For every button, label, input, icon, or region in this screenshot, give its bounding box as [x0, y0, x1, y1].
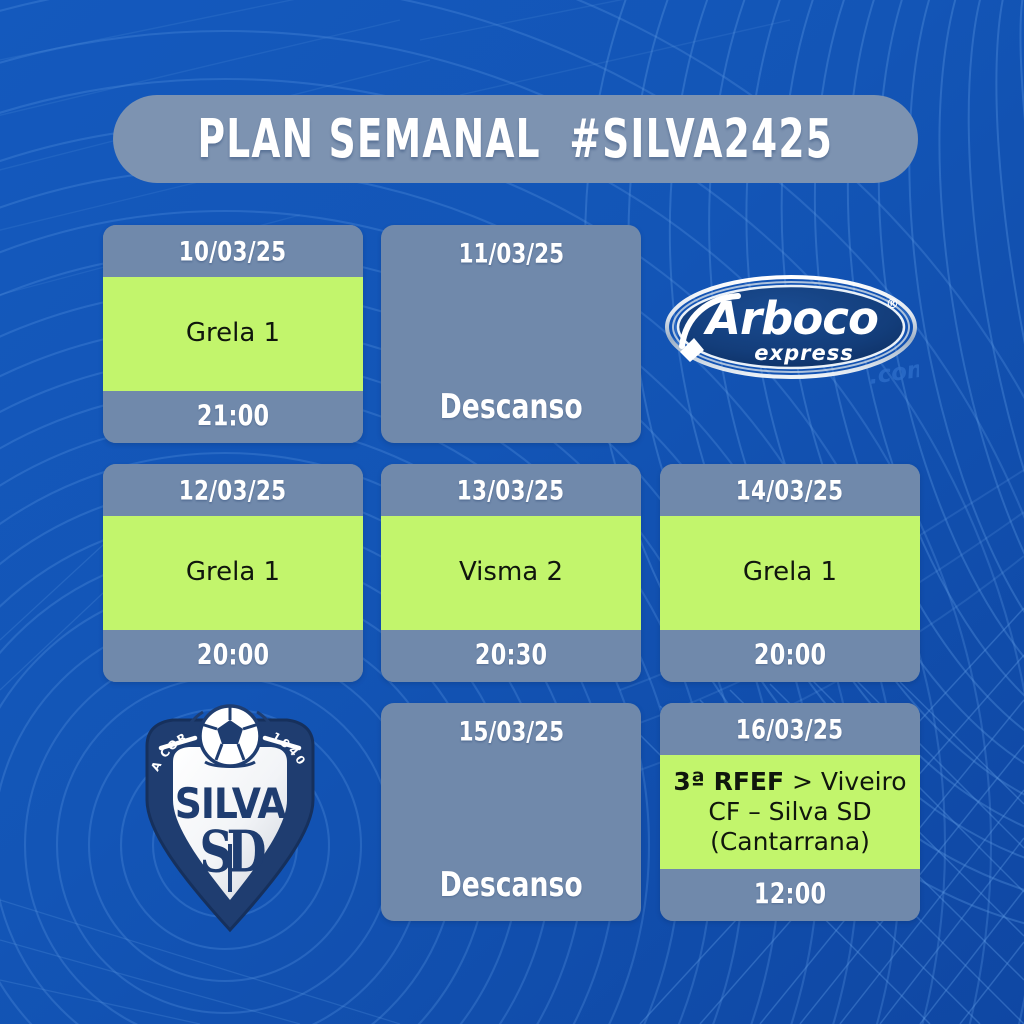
svg-text:.com: .com: [867, 356, 919, 390]
day-date: 11/03/25: [450, 239, 573, 268]
day-card-0[interactable]: 10/03/25 Grela 1 21:00: [103, 225, 363, 443]
svg-text:express: express: [754, 341, 853, 365]
day-date: 14/03/25: [660, 464, 920, 516]
day-location: Grela 1: [660, 516, 920, 630]
day-card-6[interactable]: 16/03/25 3ª RFEF > Viveiro CF – Silva SD…: [660, 703, 920, 921]
day-rest-label: Descanso: [428, 389, 594, 425]
day-time: 20:30: [381, 630, 641, 682]
day-date: 16/03/25: [660, 703, 920, 755]
day-time: 20:00: [103, 630, 363, 682]
day-card-5[interactable]: 15/03/25 Descanso: [381, 703, 641, 921]
day-card-4[interactable]: 14/03/25 Grela 1 20:00: [660, 464, 920, 682]
page-title-banner: PLAN SEMANAL #SILVA2425: [113, 95, 918, 183]
svg-text:SD: SD: [199, 818, 264, 885]
arboco-express-logo: Arboco ® express .com: [664, 272, 919, 390]
silva-sd-crest: A CORUÑA 1940 SILVA SD: [121, 704, 339, 936]
page-title: PLAN SEMANAL #SILVA2425: [198, 108, 834, 171]
day-date: 12/03/25: [103, 464, 363, 516]
svg-text:Arboco: Arboco: [703, 292, 878, 345]
day-card-2[interactable]: 12/03/25 Grela 1 20:00: [103, 464, 363, 682]
day-date: 10/03/25: [103, 225, 363, 277]
day-date: 13/03/25: [381, 464, 641, 516]
day-card-1[interactable]: 11/03/25 Descanso: [381, 225, 641, 443]
day-location: Visma 2: [381, 516, 641, 630]
svg-text:®: ®: [886, 297, 899, 312]
match-fixture: 3ª RFEF > Viveiro CF – Silva SD (Cantarr…: [660, 755, 920, 869]
day-time: 21:00: [103, 391, 363, 443]
day-location: Grela 1: [103, 516, 363, 630]
day-location: Grela 1: [103, 277, 363, 391]
day-rest-label: Descanso: [428, 867, 594, 903]
day-time: 12:00: [660, 869, 920, 921]
day-card-3[interactable]: 13/03/25 Visma 2 20:30: [381, 464, 641, 682]
match-league: 3ª RFEF: [673, 767, 784, 796]
day-time: 20:00: [660, 630, 920, 682]
day-date: 15/03/25: [450, 717, 573, 746]
